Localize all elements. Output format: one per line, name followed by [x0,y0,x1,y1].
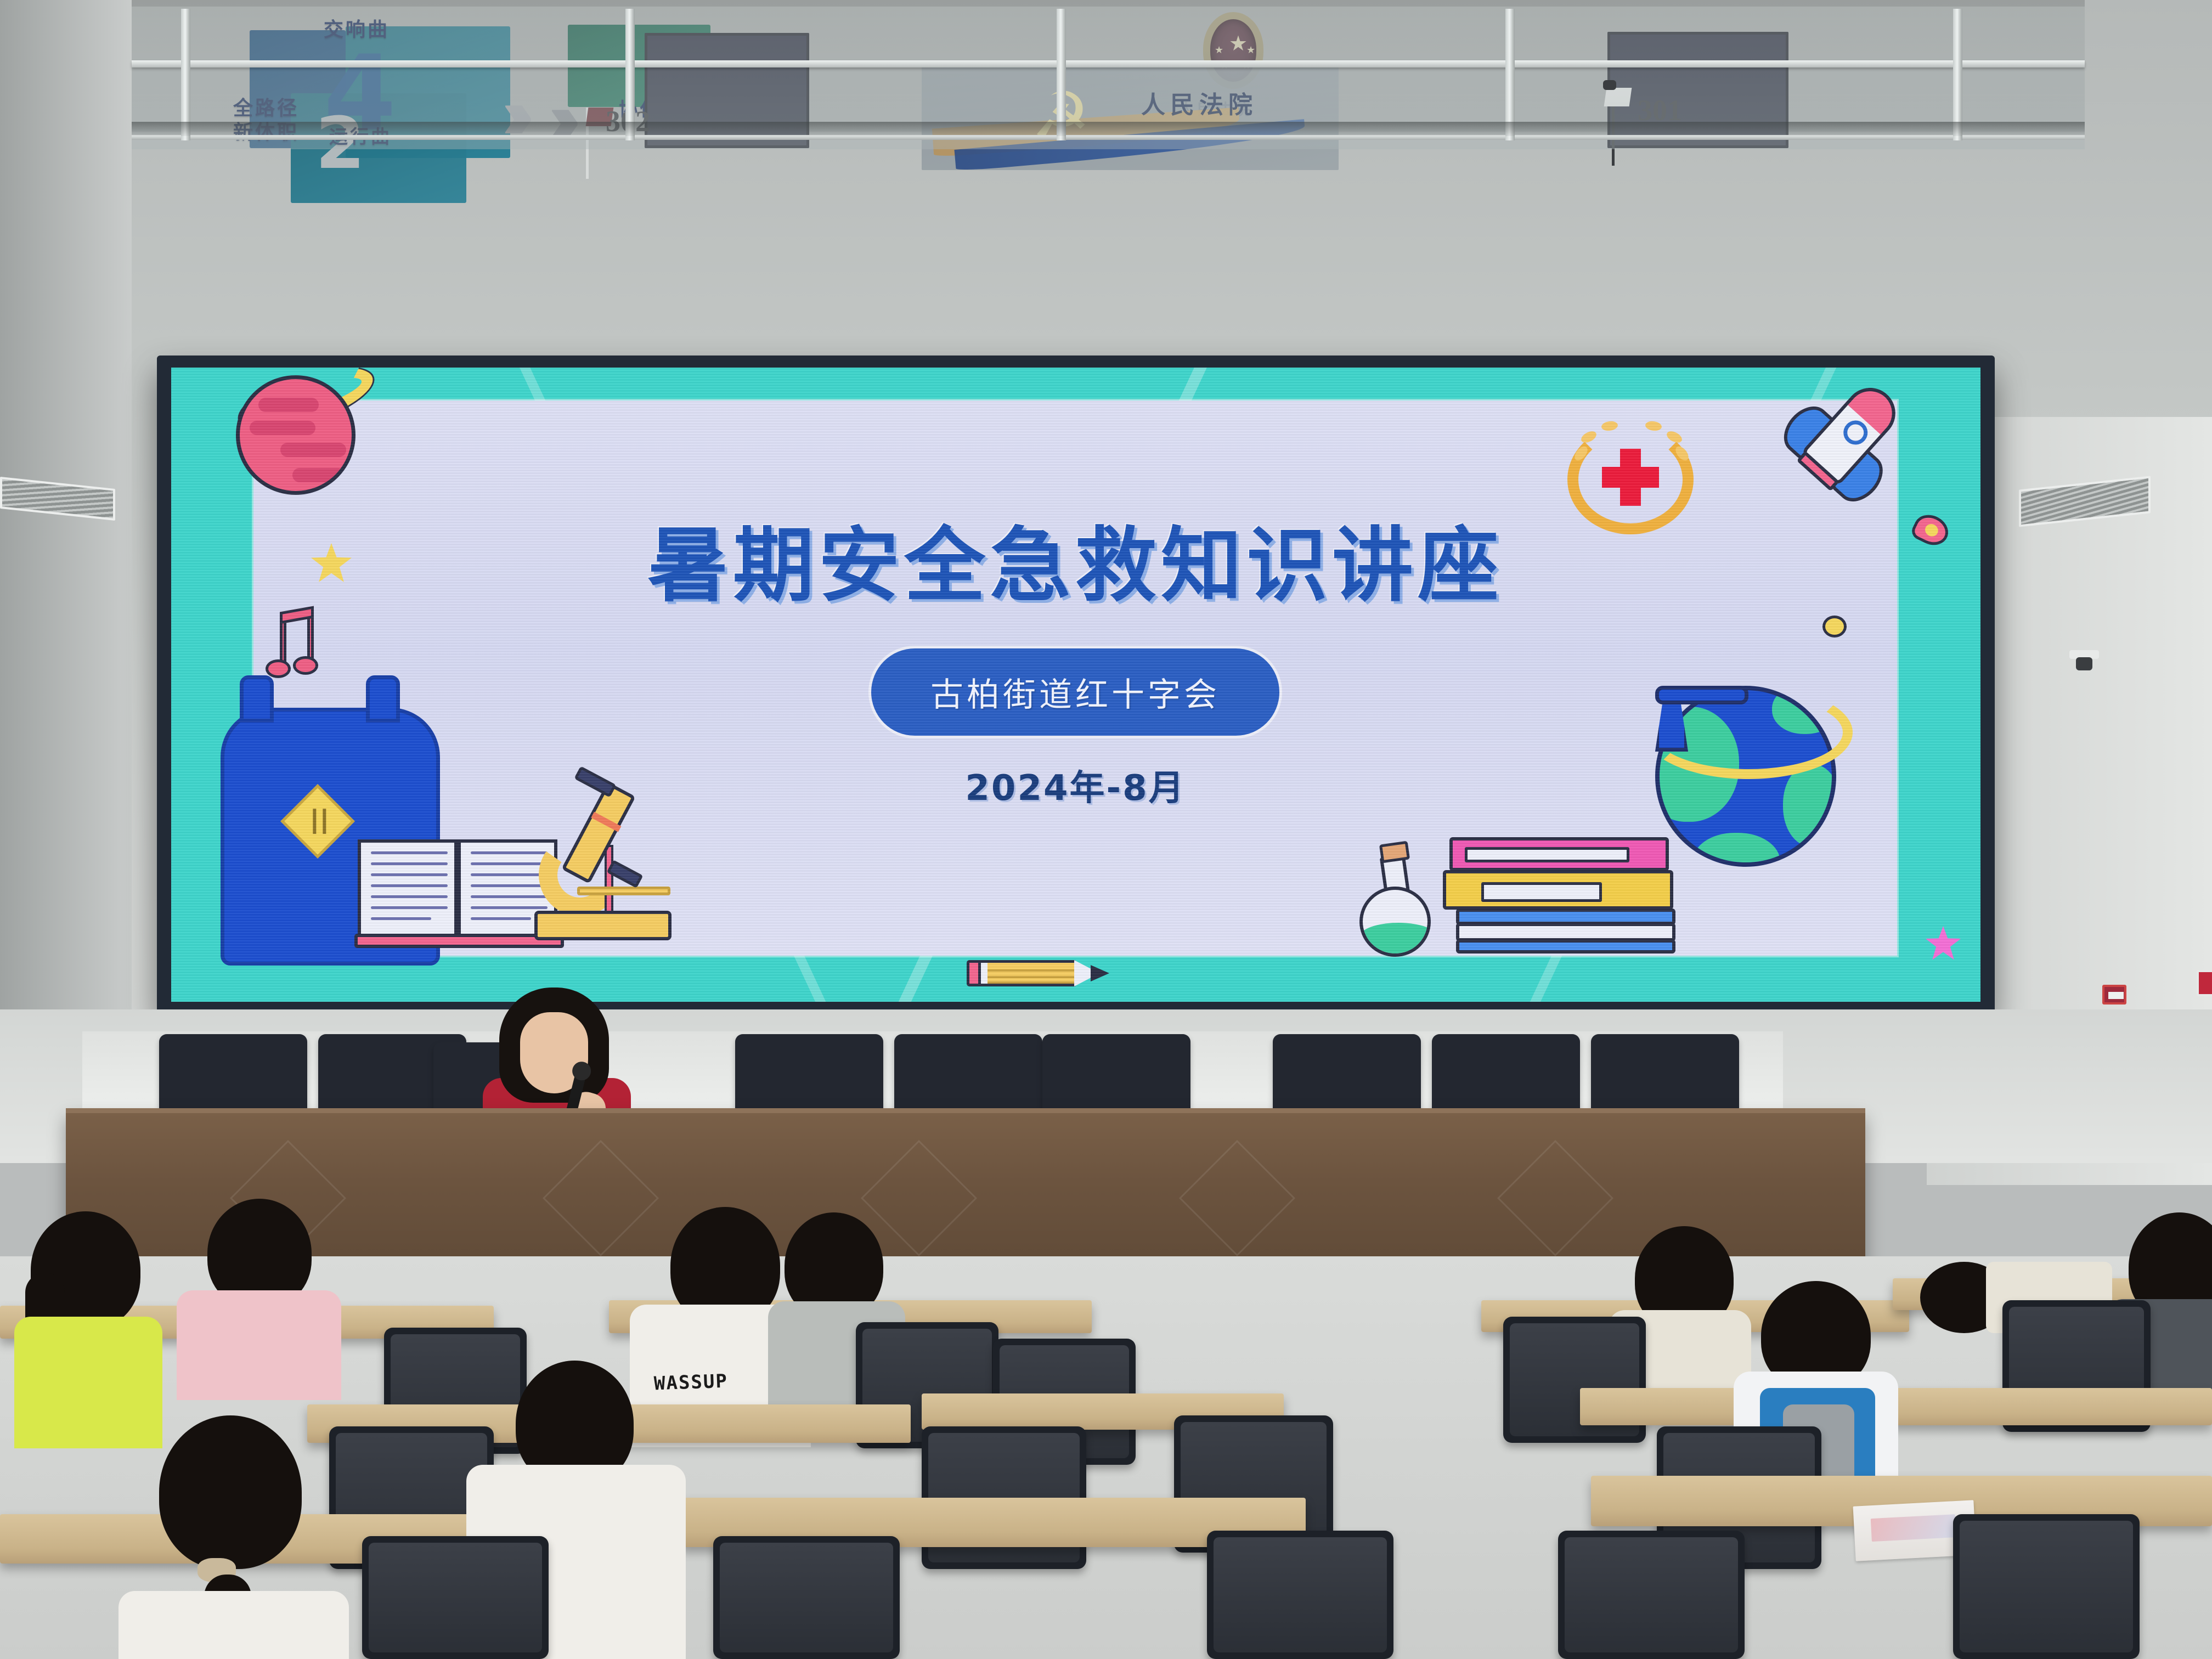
book-stack-pink [1449,837,1669,871]
book-stack-blue-2 [1456,939,1675,953]
saturn-planet-icon [236,375,356,495]
security-camera-icon [2076,657,2092,670]
rail-post [1953,9,1962,140]
rail-post [1505,9,1515,140]
fire-alarm-box-icon [2102,985,2126,1005]
podium-diamond [543,1140,659,1256]
yellow-dot-icon [1822,616,1847,637]
podium-diamond [1179,1140,1295,1256]
stage-chair[interactable] [1273,1034,1421,1111]
stage-chair[interactable] [159,1034,307,1111]
audience-seat[interactable] [713,1536,900,1659]
audience-seat[interactable] [1953,1514,2140,1659]
lecture-hall-scene: 4 2 3 交响曲 全路径 新体职 运行曲 协作曲 ›› ›› 302 301 … [0,0,2212,1659]
audience-seat[interactable] [362,1536,549,1659]
flask-icon [1356,845,1438,957]
red-cross-laurel-icon [1567,425,1694,534]
left-wall [0,0,132,1152]
led-screen[interactable]: 暑期安全急救知识讲座 古柏街道红十字会 2024年-8月 [157,356,1995,1014]
book-stack-yellow [1443,870,1673,910]
pencil-icon [967,960,1109,986]
pink-star-icon [1926,926,1961,961]
audience-seat[interactable] [1207,1531,1393,1659]
rail-post [1057,9,1066,140]
stage-chair[interactable] [735,1034,883,1111]
globe-foot [1655,686,1748,704]
led-screen-surface: 暑期安全急救知识讲座 古柏街道红十字会 2024年-8月 [171,368,1980,1002]
slide-date: 2024年-8月 [253,760,1897,810]
audience-seat[interactable] [1558,1531,1745,1659]
rail-post [625,9,635,140]
stage-chair[interactable] [1042,1034,1190,1111]
organizer-badge: 古柏街道红十字会 [871,648,1279,736]
fire-exit-sign-icon [2197,970,2212,996]
book-stack-white [1456,923,1675,941]
mezzanine-shadow [132,122,2085,136]
stage-chair[interactable] [894,1034,1042,1111]
slide-canvas: 暑期安全急救知识讲座 古柏街道红十字会 2024年-8月 [253,400,1897,956]
red-cross-icon [1602,449,1659,506]
rail-post [181,9,190,140]
balustrade-handrail [132,60,2085,67]
music-note-icon [268,612,320,689]
organizer-badge-label: 古柏街道红十字会 [930,676,1220,714]
stage-chair[interactable] [1591,1034,1739,1111]
shirt-text-label: WASSUP [653,1370,728,1395]
pink-drop-icon [1909,510,1953,551]
microscope-icon [522,779,676,944]
stage-chair[interactable] [1432,1034,1580,1111]
security-camera-icon-upper [1603,80,1616,90]
podium-diamond [1497,1140,1613,1256]
podium-diamond [861,1140,977,1256]
